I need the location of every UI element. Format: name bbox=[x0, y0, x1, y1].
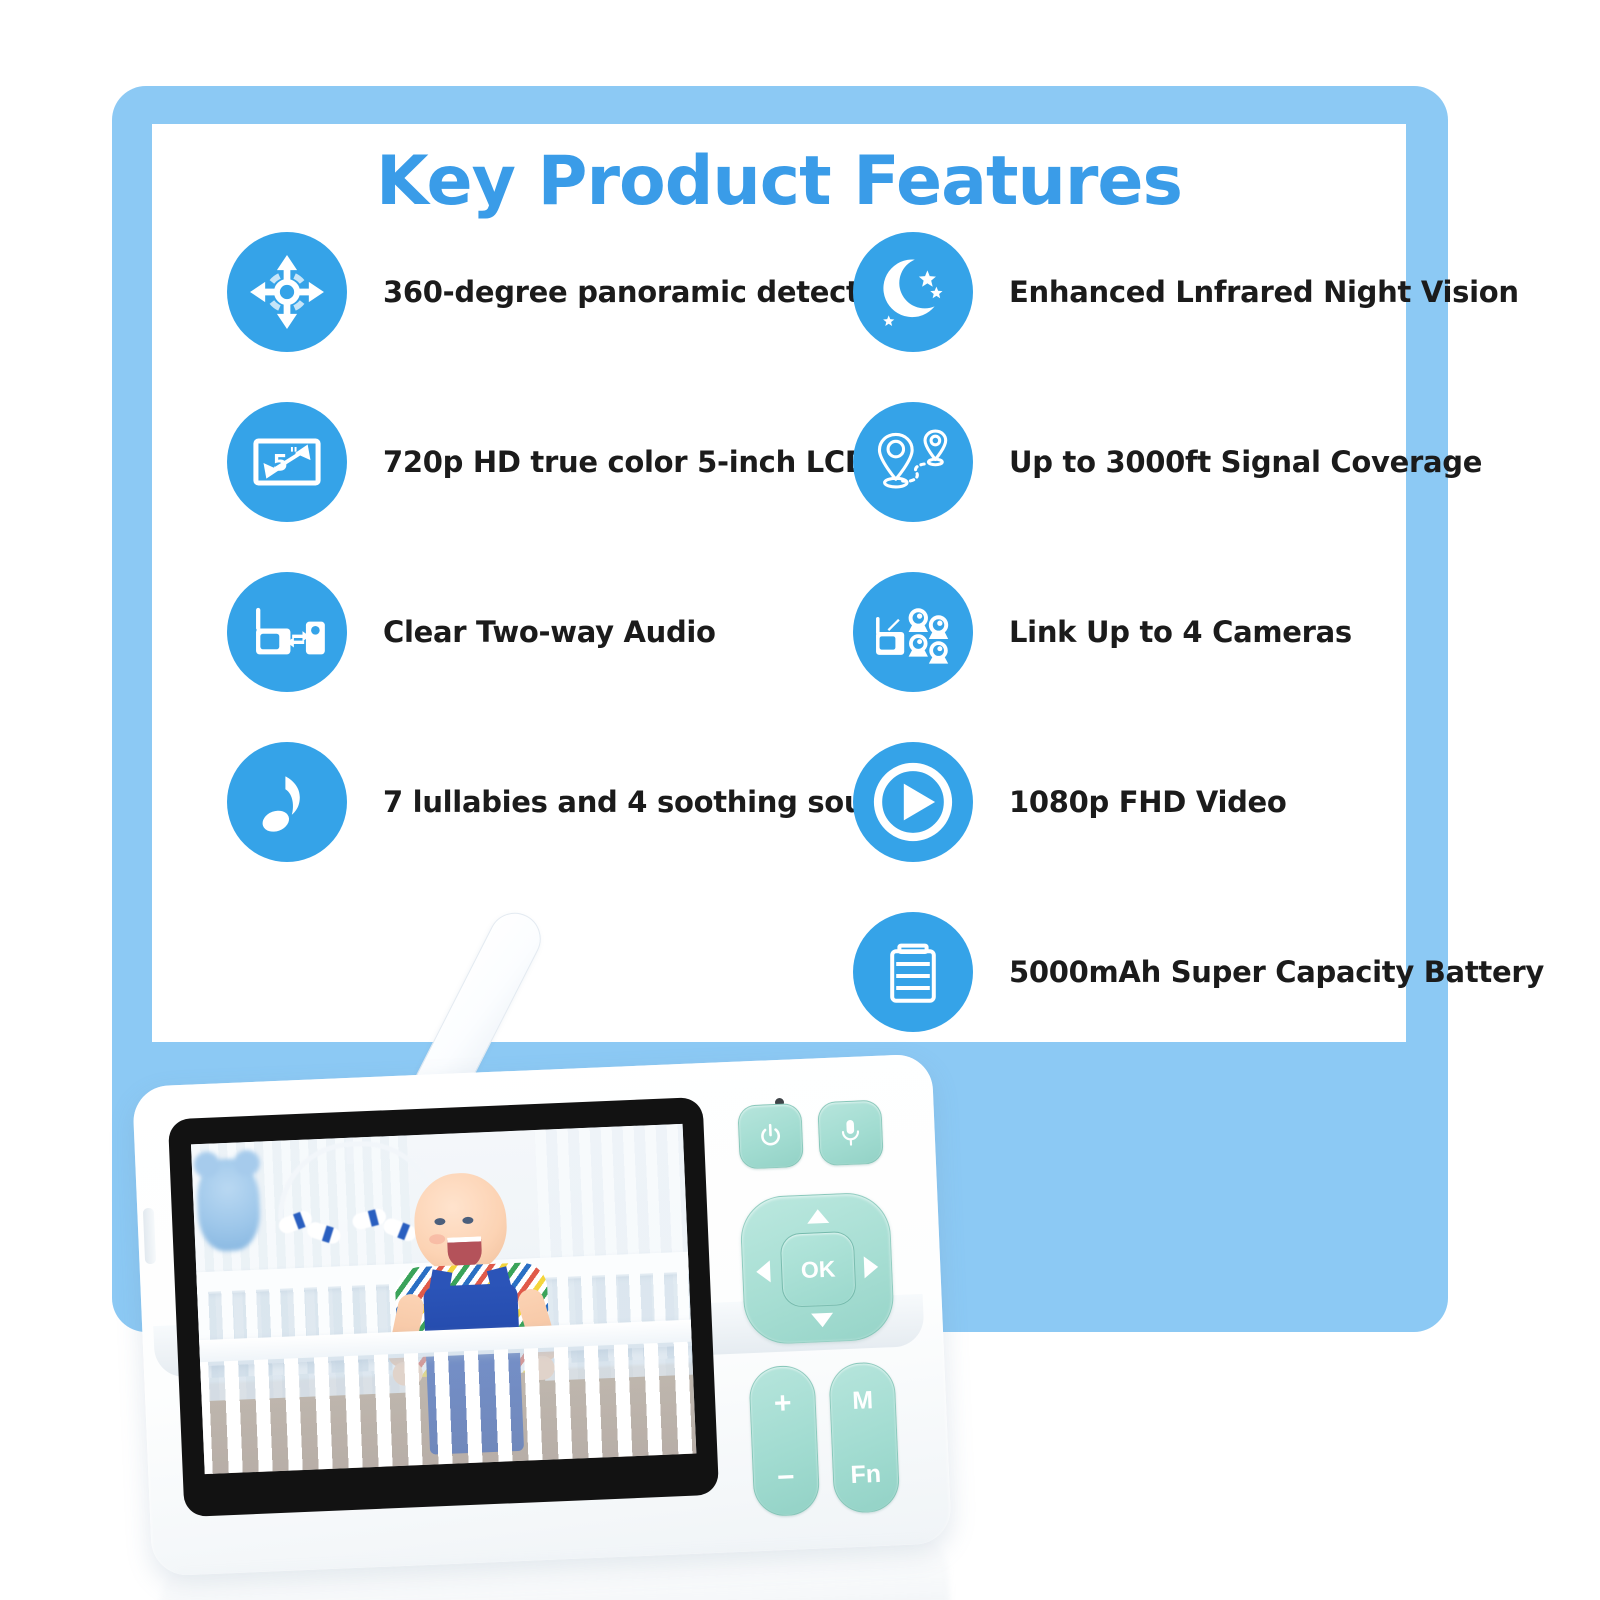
two-way-audio-icon bbox=[227, 572, 347, 692]
volume-rocker[interactable]: + − bbox=[748, 1365, 820, 1518]
down-arrow-icon[interactable] bbox=[811, 1313, 834, 1328]
map-pins-path-icon bbox=[853, 402, 973, 522]
microphone-icon bbox=[837, 1117, 864, 1148]
baby-monitor-device: OK + − M Fn bbox=[120, 880, 1000, 1580]
feature-item-two-way-audio: Clear Two-way Audio bbox=[227, 572, 716, 692]
infographic-root: Key Product Features bbox=[0, 0, 1600, 1600]
feature-label: Link Up to 4 Cameras bbox=[1009, 615, 1352, 649]
teddy-bear bbox=[196, 1158, 262, 1253]
volume-up-label[interactable]: + bbox=[773, 1387, 792, 1422]
feature-label: 360-degree panoramic detection bbox=[383, 275, 909, 309]
screen-bezel bbox=[168, 1097, 719, 1517]
feature-label: 5000mAh Super Capacity Battery bbox=[1009, 955, 1544, 989]
up-arrow-icon[interactable] bbox=[807, 1209, 830, 1224]
nursery-scene bbox=[191, 1124, 696, 1474]
music-note-icon bbox=[227, 742, 347, 862]
ok-button[interactable]: OK bbox=[780, 1231, 857, 1308]
directional-pad[interactable]: OK bbox=[739, 1191, 895, 1345]
control-button-panel: OK + − M Fn bbox=[729, 1098, 924, 1525]
volume-down-label[interactable]: − bbox=[776, 1461, 795, 1496]
crib-slats-front bbox=[194, 1340, 696, 1474]
feature-label: Enhanced Lnfrared Night Vision bbox=[1009, 275, 1519, 309]
feature-label: 720p HD true color 5-inch LCD bbox=[383, 445, 869, 479]
moon-stars-icon bbox=[853, 232, 973, 352]
power-button[interactable] bbox=[737, 1103, 804, 1170]
feature-item-lcd-screen: 5 " 720p HD true color 5-inch LCD bbox=[227, 402, 869, 522]
feature-item-fhd-video: 1080p FHD Video bbox=[853, 742, 1287, 862]
feature-item-night-vision: Enhanced Lnfrared Night Vision bbox=[853, 232, 1519, 352]
side-button[interactable] bbox=[143, 1208, 156, 1264]
feature-item-panoramic-detection: 360-degree panoramic detection bbox=[227, 232, 909, 352]
svg-text:": " bbox=[289, 443, 298, 463]
feature-item-signal-coverage: Up to 3000ft Signal Coverage bbox=[853, 402, 1482, 522]
screen-diagonal-5-inch-icon: 5 " bbox=[227, 402, 347, 522]
play-circle-icon bbox=[853, 742, 973, 862]
menu-function-button[interactable]: M Fn bbox=[828, 1361, 900, 1514]
menu-button-label[interactable]: M bbox=[852, 1386, 874, 1416]
feature-label: 7 lullabies and 4 soothing sounds bbox=[383, 785, 922, 819]
right-arrow-icon[interactable] bbox=[864, 1256, 879, 1279]
feature-item-multi-camera: Link Up to 4 Cameras bbox=[853, 572, 1352, 692]
talk-microphone-button[interactable] bbox=[817, 1100, 884, 1167]
feature-label: Up to 3000ft Signal Coverage bbox=[1009, 445, 1482, 479]
left-arrow-icon[interactable] bbox=[756, 1260, 771, 1283]
live-video-feed bbox=[191, 1124, 696, 1474]
feature-item-lullabies: 7 lullabies and 4 soothing sounds bbox=[227, 742, 922, 862]
svg-text:5: 5 bbox=[273, 451, 288, 476]
function-button-label[interactable]: Fn bbox=[850, 1459, 882, 1489]
monitor-four-cameras-icon bbox=[853, 572, 973, 692]
feature-label: 1080p FHD Video bbox=[1009, 785, 1287, 819]
feature-label: Clear Two-way Audio bbox=[383, 615, 716, 649]
four-way-arrows-icon bbox=[227, 232, 347, 352]
power-icon bbox=[756, 1122, 785, 1151]
